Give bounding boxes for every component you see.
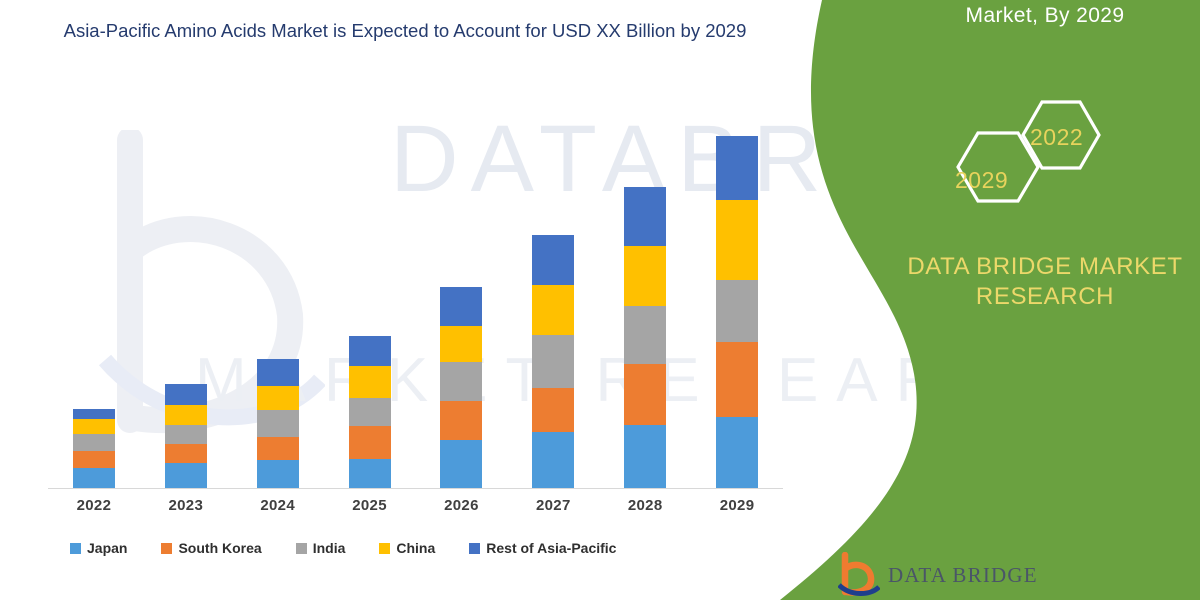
legend-item-india[interactable]: India <box>296 540 346 556</box>
bar-segment-india[interactable] <box>73 434 115 451</box>
bar-segment-china[interactable] <box>165 405 207 425</box>
bar-segment-south-korea[interactable] <box>349 426 391 459</box>
legend-swatch-rest-of-asia-pacific <box>469 543 480 554</box>
databridge-logo-text: DATA BRIDGE <box>888 563 1038 588</box>
bar-segment-china[interactable] <box>716 200 758 280</box>
bar-group <box>48 110 783 488</box>
chart-legend: JapanSouth KoreaIndiaChinaRest of Asia-P… <box>70 540 770 556</box>
legend-item-south-korea[interactable]: South Korea <box>161 540 261 556</box>
legend-label-japan: Japan <box>87 540 127 556</box>
chart-canvas: DATABRIDGE MARKET RESEARCH Asia-Pacific … <box>0 0 1200 600</box>
bar-column-2024[interactable] <box>234 110 322 488</box>
bar-segment-japan[interactable] <box>73 468 115 488</box>
bar-segment-rest-of-asia-pacific[interactable] <box>532 235 574 285</box>
hex-label-back: 2029 <box>955 167 1008 194</box>
bar-segment-rest-of-asia-pacific[interactable] <box>73 409 115 419</box>
x-axis-label-2023: 2023 <box>142 497 230 514</box>
x-axis-label-2024: 2024 <box>234 497 322 514</box>
hex-label-front: 2022 <box>1030 124 1083 151</box>
bar-column-2023[interactable] <box>142 110 230 488</box>
bar-segment-india[interactable] <box>532 335 574 388</box>
bar-segment-south-korea[interactable] <box>532 388 574 432</box>
bar-segment-japan[interactable] <box>349 459 391 488</box>
chart-baseline <box>48 488 783 489</box>
brand-line-1: DATA BRIDGE MARKET <box>907 253 1182 280</box>
bar-segment-south-korea[interactable] <box>440 401 482 440</box>
bar-segment-south-korea[interactable] <box>716 342 758 417</box>
bar-segment-india[interactable] <box>440 362 482 401</box>
legend-item-china[interactable]: China <box>379 540 435 556</box>
bar-segment-india[interactable] <box>257 410 299 437</box>
legend-label-india: India <box>313 540 346 556</box>
legend-item-japan[interactable]: Japan <box>70 540 127 556</box>
bar-column-2027[interactable] <box>509 110 597 488</box>
bar-segment-rest-of-asia-pacific[interactable] <box>349 336 391 366</box>
databridge-logo: DATA BRIDGE <box>838 552 1038 598</box>
bar-segment-south-korea[interactable] <box>624 364 666 425</box>
x-axis-label-2022: 2022 <box>50 497 138 514</box>
legend-swatch-china <box>379 543 390 554</box>
bar-segment-china[interactable] <box>257 386 299 410</box>
bar-stack <box>440 287 482 488</box>
bar-segment-india[interactable] <box>624 306 666 364</box>
bar-segment-japan[interactable] <box>624 425 666 488</box>
bar-segment-japan[interactable] <box>716 417 758 488</box>
bar-segment-south-korea[interactable] <box>73 451 115 468</box>
bar-column-2022[interactable] <box>50 110 138 488</box>
bar-segment-south-korea[interactable] <box>257 437 299 460</box>
legend-label-rest-of-asia-pacific: Rest of Asia-Pacific <box>486 540 616 556</box>
bar-segment-japan[interactable] <box>257 460 299 488</box>
bar-segment-china[interactable] <box>73 419 115 434</box>
legend-swatch-japan <box>70 543 81 554</box>
bar-stack <box>73 409 115 488</box>
brand-name: DATA BRIDGE MARKET RESEARCH <box>900 252 1190 312</box>
brand-line-2: RESEARCH <box>976 283 1114 310</box>
bar-segment-china[interactable] <box>532 285 574 335</box>
bar-stack <box>532 235 574 488</box>
bar-column-2028[interactable] <box>601 110 689 488</box>
bar-segment-rest-of-asia-pacific[interactable] <box>165 384 207 405</box>
bar-segment-china[interactable] <box>624 246 666 306</box>
bar-column-2026[interactable] <box>417 110 505 488</box>
legend-swatch-south-korea <box>161 543 172 554</box>
chart-title: Asia-Pacific Amino Acids Market is Expec… <box>55 16 755 46</box>
bar-segment-japan[interactable] <box>165 463 207 488</box>
bar-stack <box>716 136 758 488</box>
bar-stack <box>165 384 207 488</box>
legend-swatch-india <box>296 543 307 554</box>
legend-label-south-korea: South Korea <box>178 540 261 556</box>
bar-segment-japan[interactable] <box>440 440 482 488</box>
bar-column-2025[interactable] <box>326 110 414 488</box>
x-axis-label-2025: 2025 <box>326 497 414 514</box>
panel-title: Market, By 2029 <box>895 4 1195 28</box>
bar-segment-rest-of-asia-pacific[interactable] <box>624 187 666 246</box>
bar-segment-rest-of-asia-pacific[interactable] <box>440 287 482 326</box>
bar-segment-india[interactable] <box>716 280 758 342</box>
x-axis-labels: 20222023202420252026202720282029 <box>48 497 783 514</box>
bar-segment-india[interactable] <box>165 425 207 444</box>
bar-segment-china[interactable] <box>349 366 391 398</box>
x-axis-label-2026: 2026 <box>417 497 505 514</box>
bar-segment-rest-of-asia-pacific[interactable] <box>257 359 299 386</box>
legend-item-rest-of-asia-pacific[interactable]: Rest of Asia-Pacific <box>469 540 616 556</box>
bar-segment-south-korea[interactable] <box>165 444 207 463</box>
legend-label-china: China <box>396 540 435 556</box>
bar-stack <box>624 187 666 488</box>
bar-stack <box>349 336 391 488</box>
bar-segment-india[interactable] <box>349 398 391 426</box>
bar-segment-rest-of-asia-pacific[interactable] <box>716 136 758 200</box>
bar-stack <box>257 359 299 488</box>
databridge-logo-icon <box>838 552 880 598</box>
bar-segment-china[interactable] <box>440 326 482 362</box>
x-axis-label-2028: 2028 <box>601 497 689 514</box>
x-axis-label-2027: 2027 <box>509 497 597 514</box>
bar-segment-japan[interactable] <box>532 432 574 488</box>
